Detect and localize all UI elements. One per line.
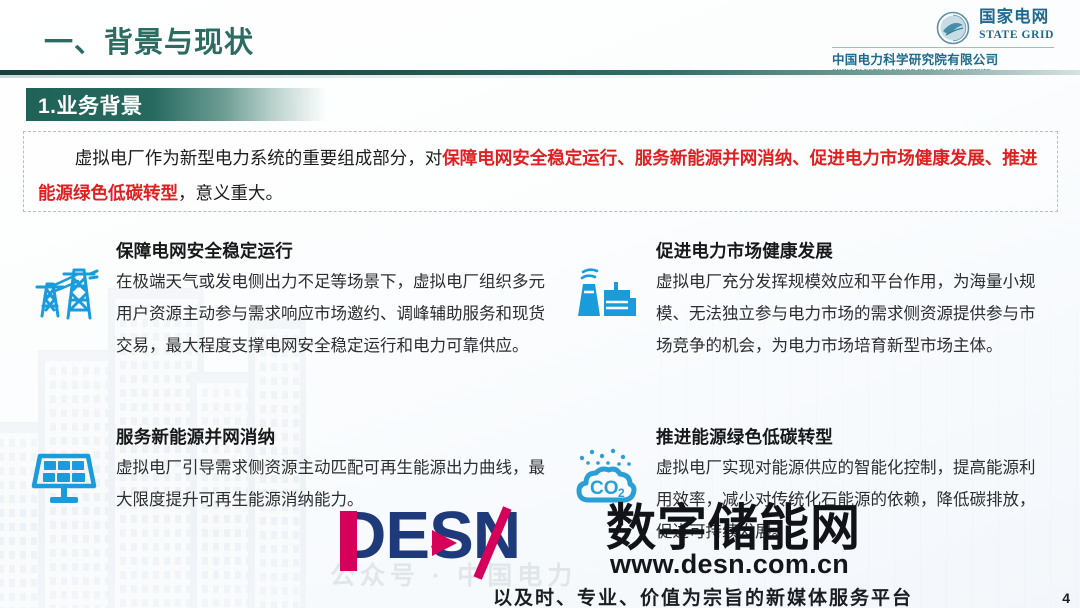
slide-canvas: 一、背景与现状 国家电网 STATE GRID 中国电力科学研究院有限公司 CH…: [0, 0, 1080, 608]
feature-item-low-carbon: CO 2 推进能源绿色低碳转型 虚拟电厂实现对能源供应的智能化控制，提高能源利用…: [566, 424, 1056, 548]
feature-description: 虚拟电厂引导需求侧资源主动匹配可再生能源出力曲线，最大限度提升可再生能源消纳能力…: [116, 452, 556, 516]
feature-title: 推进能源绿色低碳转型: [656, 424, 1046, 449]
feature-description: 在极端天气或发电侧出力不足等场景下，虚拟电厂组织多元用户资源主动参与需求响应市场…: [116, 266, 556, 362]
feature-title: 促进电力市场健康发展: [656, 238, 1046, 263]
power-plant-icon: [566, 254, 642, 330]
intro-paragraph: 虚拟电厂作为新型电力系统的重要组成部分，对保障电网安全稳定运行、服务新能源并网消…: [38, 141, 1043, 211]
logo-name-cn: 国家电网: [979, 8, 1049, 26]
intro-callout-box: 虚拟电厂作为新型电力系统的重要组成部分，对保障电网安全稳定运行、服务新能源并网消…: [23, 131, 1058, 212]
feature-description: 虚拟电厂充分发挥规模效应和平台作用，为海量小规模、无法独立参与电力市场的需求侧资…: [656, 266, 1046, 362]
svg-text:CO: CO: [590, 478, 619, 499]
feature-grid: 保障电网安全稳定运行 在极端天气或发电侧出力不足等场景下，虚拟电厂组织多元用户资…: [26, 238, 1056, 548]
feature-description: 虚拟电厂实现对能源供应的智能化控制，提高能源利用效率，减少对传统化石能源的依赖，…: [656, 452, 1046, 548]
desn-url: www.desn.com.cn: [610, 549, 849, 580]
logo-name-en: STATE GRID: [979, 29, 1054, 41]
feature-text-block: 服务新能源并网消纳 虚拟电厂引导需求侧资源主动匹配可再生能源出力曲线，最大限度提…: [116, 424, 556, 548]
company-logo: 国家电网 STATE GRID: [936, 9, 1054, 45]
feature-text-block: 促进电力市场健康发展 虚拟电厂充分发挥规模效应和平台作用，为海量小规模、无法独立…: [656, 238, 1046, 424]
transmission-tower-icon: [26, 254, 102, 330]
intro-tail: ，意义重大。: [178, 183, 283, 203]
section-banner-label: 1.业务背景: [26, 90, 143, 120]
svg-text:2: 2: [618, 486, 625, 500]
page-number: 4: [1062, 590, 1070, 606]
section-banner: 1.业务背景: [26, 88, 326, 121]
institute-name-cn: 中国电力科学研究院有限公司: [832, 49, 1054, 68]
logo-wordmark: 国家电网 STATE GRID: [979, 9, 1054, 42]
co2-cloud-icon: CO 2: [566, 440, 642, 516]
solar-panel-icon: [26, 440, 102, 516]
header-divider-shadow: [0, 75, 1080, 78]
ghost-watermark-text: 公众号 · 中国电力: [330, 556, 577, 592]
feature-title: 保障电网安全稳定运行: [116, 238, 556, 263]
feature-text-block: 保障电网安全稳定运行 在极端天气或发电侧出力不足等场景下，虚拟电厂组织多元用户资…: [116, 238, 556, 424]
slide-header: 一、背景与现状 国家电网 STATE GRID 中国电力科学研究院有限公司 CH…: [0, 0, 1080, 80]
feature-item-renewable-consumption: 服务新能源并网消纳 虚拟电厂引导需求侧资源主动匹配可再生能源出力曲线，最大限度提…: [26, 424, 566, 548]
state-grid-globe-icon: [936, 11, 970, 45]
feature-title: 服务新能源并网消纳: [116, 424, 556, 449]
intro-lead: 虚拟电厂作为新型电力系统的重要组成部分，对: [75, 148, 443, 168]
page-title: 一、背景与现状: [44, 19, 254, 61]
feature-item-grid-security: 保障电网安全稳定运行 在极端天气或发电侧出力不足等场景下，虚拟电厂组织多元用户资…: [26, 238, 566, 424]
feature-text-block: 推进能源绿色低碳转型 虚拟电厂实现对能源供应的智能化控制，提高能源利用效率，减少…: [656, 424, 1046, 548]
desn-tagline: 以及时、专业、价值为宗旨的新媒体服务平台: [338, 583, 1068, 608]
feature-item-market-development: 促进电力市场健康发展 虚拟电厂充分发挥规模效应和平台作用，为海量小规模、无法独立…: [566, 238, 1056, 424]
logo-divider: [832, 47, 1054, 48]
